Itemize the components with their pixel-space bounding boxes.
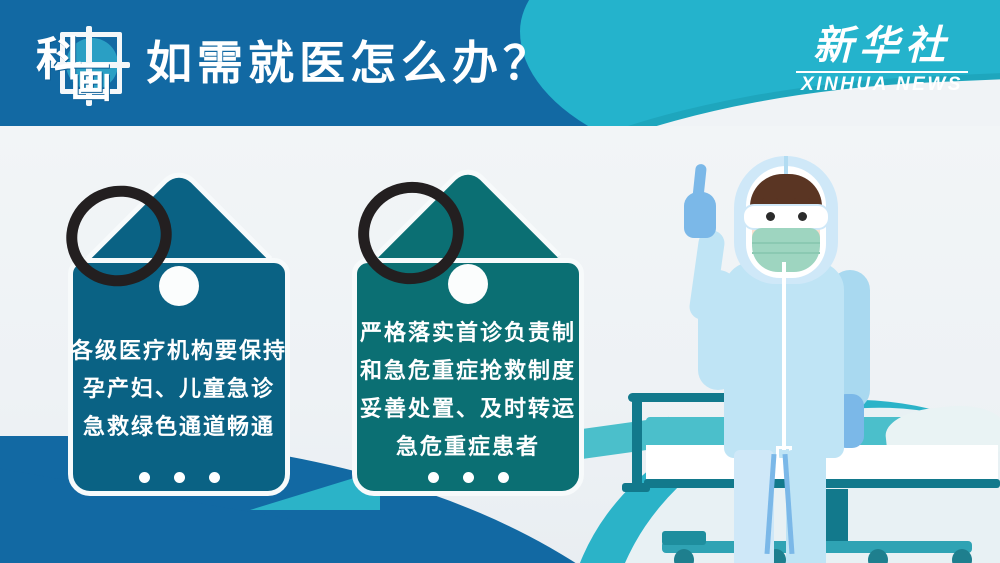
tag1-dot-2	[174, 472, 185, 483]
figure-eyebrow-left	[762, 198, 778, 203]
tag2-line-3: 妥善处置、及时转运	[352, 390, 584, 428]
figure-eye-left	[766, 212, 775, 221]
tag1-line-1: 各级医疗机构要保持	[68, 332, 290, 370]
medical-worker-figure	[672, 158, 888, 563]
figure-mask-pleat-1	[752, 242, 820, 244]
tag1-line-2: 孕产妇、儿童急诊	[68, 370, 290, 408]
tag-dots-2	[352, 470, 584, 488]
figure-goggles-icon	[742, 204, 830, 230]
tag2-line-4: 急危重症患者	[352, 428, 584, 466]
tag1-line-3: 急救绿色通道畅通	[68, 408, 290, 446]
tag-hole-2	[448, 264, 488, 304]
figure-suit-zipper	[782, 262, 786, 450]
tag2-line-2: 和急危重症抢救制度	[352, 352, 584, 390]
page-title: 如需就医怎么办？	[146, 30, 554, 96]
figure-eye-right	[798, 212, 807, 221]
logo-char-hua: 画	[70, 62, 112, 104]
tag2-dot-2	[463, 472, 474, 483]
info-tag-card-1[interactable]: 各级医疗机构要保持 孕产妇、儿童急诊 急救绿色通道畅通	[68, 258, 290, 496]
xinhua-news-logo[interactable]: 新华社 XINHUA NEWS	[796, 24, 968, 95]
xinhua-logo-cn: 新华社	[796, 24, 968, 68]
bed-side-rail-vertical	[632, 395, 642, 487]
figure-face-mask-icon	[752, 228, 820, 272]
page-header: 科 画 如需就医怎么办？ 新华社 XINHUA NEWS	[0, 0, 1000, 126]
tag-text-2: 严格落实首诊负责制 和急危重症抢救制度 妥善处置、及时转运 急危重症患者	[352, 314, 584, 466]
tag1-dot-1	[139, 472, 150, 483]
tag-dots-1	[68, 470, 290, 488]
figure-eyebrow-right	[794, 198, 810, 203]
kehua-logo-icon: 科 画	[36, 22, 138, 108]
infographic-canvas: 各级医疗机构要保持 孕产妇、儿童急诊 急救绿色通道畅通 严格落实首诊负责制 和急…	[0, 0, 1000, 563]
info-tag-card-2[interactable]: 严格落实首诊负责制 和急危重症抢救制度 妥善处置、及时转运 急危重症患者	[352, 258, 584, 496]
tag2-dot-3	[498, 472, 509, 483]
tag-text-1: 各级医疗机构要保持 孕产妇、儿童急诊 急救绿色通道畅通	[68, 332, 290, 446]
xinhua-logo-rule	[796, 71, 968, 73]
figure-mask-pleat-2	[752, 252, 820, 254]
tag-hole-1	[159, 266, 199, 306]
tag1-dot-3	[209, 472, 220, 483]
tag2-dot-1	[428, 472, 439, 483]
xinhua-logo-en: XINHUA NEWS	[796, 75, 968, 95]
bed-side-rail-foot	[622, 483, 650, 492]
tag2-line-1: 严格落实首诊负责制	[352, 314, 584, 352]
